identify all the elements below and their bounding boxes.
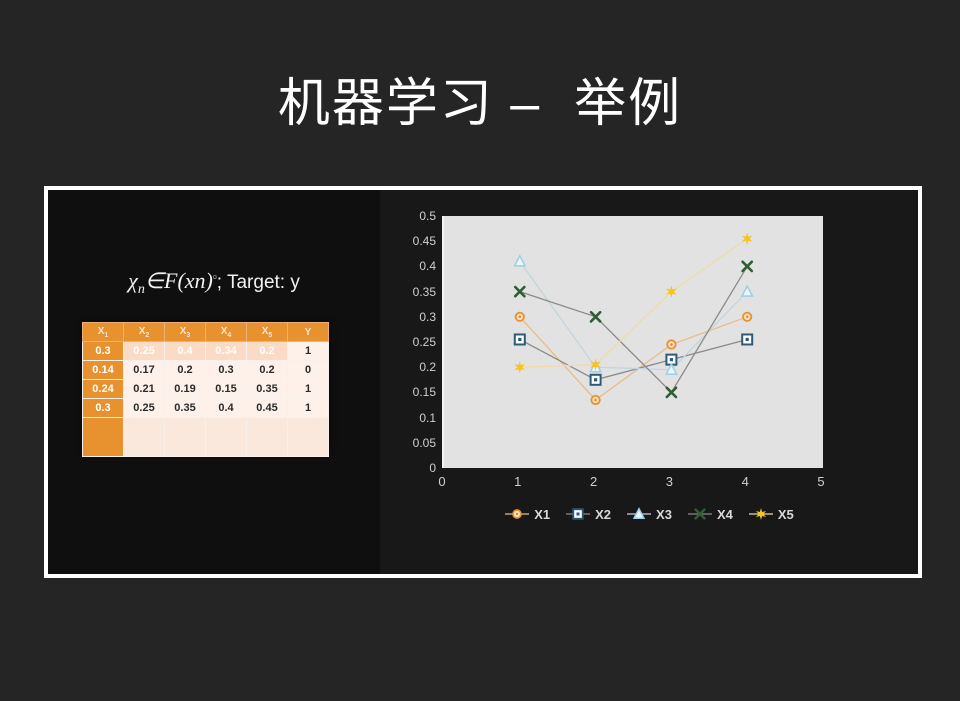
- data-point-cross: [667, 388, 676, 397]
- data-point-cross: [515, 287, 524, 296]
- table-row: 0.140.170.20.30.20: [83, 361, 329, 380]
- x-axis-tick-label: 1: [503, 474, 533, 489]
- chart-legend: X1X2X3X4X5: [380, 506, 918, 522]
- table-cell-blank: [83, 418, 124, 457]
- data-table: X1 X2 X3 X4 X5 Y 0.30.250.40.340.210.140…: [82, 322, 329, 449]
- data-point-square: [515, 334, 525, 344]
- legend-label-X1: X1: [534, 507, 550, 522]
- y-axis-tick-label: 0.1: [386, 411, 436, 425]
- table-cell: 0: [288, 361, 329, 380]
- table-cell: 0.17: [124, 361, 165, 380]
- table-cell: 0.35: [165, 399, 206, 418]
- table-cell: 0.15: [206, 380, 247, 399]
- table-cell: 0.3: [206, 361, 247, 380]
- table-cell: 0.35: [247, 380, 288, 399]
- x-axis-tick-label: 4: [730, 474, 760, 489]
- legend-marker-diamond-icon: [504, 506, 530, 522]
- table-cell: 0.2: [247, 361, 288, 380]
- formula-element-of: ∈: [145, 268, 164, 293]
- data-point-diamond: [667, 340, 675, 348]
- formula-text: χn∈F(xn)▫; Target: y: [48, 268, 380, 298]
- legend-item-X1[interactable]: X1: [504, 506, 550, 522]
- data-point-triangle: [515, 256, 525, 266]
- column-header-x2: X2: [124, 323, 165, 342]
- x-axis: 012345: [442, 474, 821, 492]
- plot-area: [442, 216, 823, 468]
- formula-chi-subscript: n: [138, 282, 145, 297]
- y-axis-tick-label: 0.35: [386, 285, 436, 299]
- table-row: 0.30.250.350.40.451: [83, 399, 329, 418]
- legend-item-X4[interactable]: X4: [687, 506, 733, 522]
- legend-marker-star-icon: [748, 506, 774, 522]
- table-cell-blank: [124, 418, 165, 457]
- legend-item-X2[interactable]: X2: [565, 506, 611, 522]
- data-point-square: [573, 509, 583, 519]
- table-cell-blank: [206, 418, 247, 457]
- column-header-x3: X3: [165, 323, 206, 342]
- legend-item-X3[interactable]: X3: [626, 506, 672, 522]
- y-axis-tick-label: 0.05: [386, 436, 436, 450]
- y-axis-tick-label: 0.3: [386, 310, 436, 324]
- data-point-star: [742, 232, 753, 244]
- legend-marker-square-icon: [565, 506, 591, 522]
- table-cell: 1: [288, 380, 329, 399]
- y-axis-tick-label: 0.5: [386, 209, 436, 223]
- data-point-square: [742, 334, 752, 344]
- chart-svg: [444, 216, 823, 468]
- legend-marker-cross-icon: [687, 506, 713, 522]
- table-cell: 1: [288, 342, 329, 361]
- legend-marker-triangle-icon: [626, 506, 652, 522]
- table-cell: 0.2: [165, 361, 206, 380]
- table-cell: 0.34: [206, 342, 247, 361]
- x-axis-tick-label: 2: [579, 474, 609, 489]
- table-cell: 0.24: [83, 380, 124, 399]
- series-line-X2: [520, 339, 747, 379]
- formula-chi: χ: [128, 268, 138, 293]
- legend-label-X4: X4: [717, 507, 733, 522]
- data-point-cross: [743, 262, 752, 271]
- y-axis-tick-label: 0.25: [386, 335, 436, 349]
- formula-function: F(xn): [164, 268, 213, 293]
- table-cell: 0.4: [206, 399, 247, 418]
- table-cell: 0.25: [124, 342, 165, 361]
- table-cell: 0.21: [124, 380, 165, 399]
- x-axis-tick-label: 3: [654, 474, 684, 489]
- data-point-square: [591, 375, 601, 385]
- table-header-row: X1 X2 X3 X4 X5 Y: [83, 323, 329, 342]
- column-header-x4: X4: [206, 323, 247, 342]
- data-point-cross: [591, 312, 600, 321]
- slide-frame: χn∈F(xn)▫; Target: y X1 X2 X3 X4 X5 Y 0.…: [44, 186, 922, 578]
- chart-panel: 00.050.10.150.20.250.30.350.40.450.5 012…: [380, 190, 918, 574]
- x-axis-tick-label: 0: [427, 474, 457, 489]
- legend-item-X5[interactable]: X5: [748, 506, 794, 522]
- table-cell: 0.4: [165, 342, 206, 361]
- table-cell: 0.3: [83, 342, 124, 361]
- data-point-diamond: [743, 313, 751, 321]
- table-cell-blank: [165, 418, 206, 457]
- table-cell-blank: [288, 418, 329, 457]
- table-row-blank: [83, 418, 329, 457]
- x-axis-tick-label: 5: [806, 474, 836, 489]
- legend-label-X5: X5: [778, 507, 794, 522]
- table-body: 0.30.250.40.340.210.140.170.20.30.200.24…: [83, 342, 329, 457]
- table-cell-blank: [247, 418, 288, 457]
- legend-label-X2: X2: [595, 507, 611, 522]
- table-cell: 0.2: [247, 342, 288, 361]
- table-row: 0.240.210.190.150.351: [83, 380, 329, 399]
- table-cell: 0.14: [83, 361, 124, 380]
- data-point-diamond: [516, 313, 524, 321]
- table-cell: 0.19: [165, 380, 206, 399]
- data-point-diamond: [591, 396, 599, 404]
- column-header-x1: X1: [83, 323, 124, 342]
- y-axis: 00.050.10.150.20.250.30.350.40.450.5: [380, 216, 436, 468]
- table-cell: 1: [288, 399, 329, 418]
- left-panel: χn∈F(xn)▫; Target: y X1 X2 X3 X4 X5 Y 0.…: [48, 190, 380, 574]
- legend-label-X3: X3: [656, 507, 672, 522]
- column-header-y: Y: [288, 323, 329, 342]
- formula-target: ; Target: y: [217, 272, 300, 293]
- y-axis-tick-label: 0.45: [386, 234, 436, 248]
- table-cell: 0.45: [247, 399, 288, 418]
- page-title: 机器学习 – 举例: [0, 76, 960, 133]
- series-line-X1: [520, 317, 747, 400]
- y-axis-tick-label: 0.15: [386, 385, 436, 399]
- column-header-x5: X5: [247, 323, 288, 342]
- table-row: 0.30.250.40.340.21: [83, 342, 329, 361]
- table-cell: 0.25: [124, 399, 165, 418]
- y-axis-tick-label: 0: [386, 461, 436, 475]
- y-axis-tick-label: 0.2: [386, 360, 436, 374]
- data-point-diamond: [513, 510, 521, 518]
- table-cell: 0.3: [83, 399, 124, 418]
- data-point-triangle: [742, 286, 752, 296]
- y-axis-tick-label: 0.4: [386, 259, 436, 273]
